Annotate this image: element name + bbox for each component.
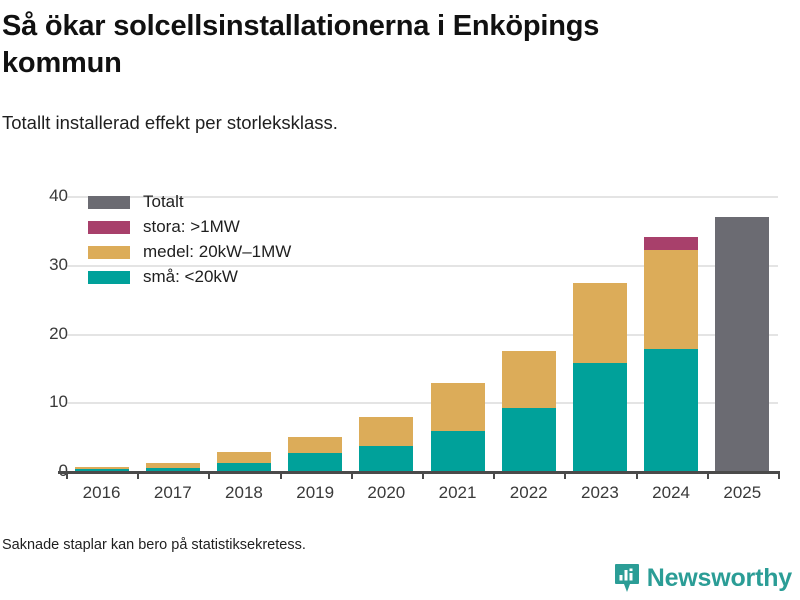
bar-stack[interactable]	[644, 237, 698, 471]
legend-label: stora: >1MW	[143, 217, 240, 237]
legend-item[interactable]: små: <20kW	[88, 266, 291, 288]
brand-name: Newsworthy	[647, 564, 792, 593]
y-axis-tick-label: 40	[8, 186, 68, 206]
bar-segment[interactable]	[288, 437, 342, 454]
legend-swatch	[88, 221, 130, 234]
bar-stack[interactable]	[573, 283, 627, 471]
y-axis-tick-label: 30	[8, 255, 68, 275]
x-axis-tick-label: 2022	[493, 483, 564, 503]
x-axis-tickmark	[280, 471, 282, 479]
bar-segment[interactable]	[217, 452, 271, 462]
bar-stack[interactable]	[288, 437, 342, 471]
bar-segment[interactable]	[359, 446, 413, 471]
x-axis-tickmark	[66, 471, 68, 479]
bar-stack[interactable]	[715, 217, 769, 471]
legend-swatch	[88, 246, 130, 259]
x-axis-tickmark	[351, 471, 353, 479]
bar-group[interactable]	[422, 196, 493, 471]
chart-subtitle: Totallt installerad effekt per storleksk…	[2, 111, 762, 135]
newsworthy-logo: Newsworthy	[614, 563, 792, 593]
x-axis-tick-label: 2016	[66, 483, 137, 503]
x-axis-tickmark	[778, 471, 780, 479]
bar-chart-pin-icon	[614, 563, 640, 593]
bar-stack[interactable]	[359, 417, 413, 471]
x-axis-tick-label: 2024	[636, 483, 707, 503]
bar-segment[interactable]	[217, 463, 271, 471]
legend-label: medel: 20kW–1MW	[143, 242, 291, 262]
bar-segment[interactable]	[644, 237, 698, 250]
x-axis-tick-label: 2023	[564, 483, 635, 503]
bar-group[interactable]	[636, 196, 707, 471]
bar-segment[interactable]	[431, 431, 485, 471]
chart-legend: Totaltstora: >1MWmedel: 20kW–1MWsmå: <20…	[88, 191, 291, 288]
x-axis-tick-label: 2020	[351, 483, 422, 503]
bar-segment[interactable]	[715, 217, 769, 471]
y-axis-tick-label: 10	[8, 392, 68, 412]
bar-segment[interactable]	[502, 408, 556, 471]
x-axis-tickmark	[208, 471, 210, 479]
legend-swatch	[88, 196, 130, 209]
bar-segment[interactable]	[573, 283, 627, 363]
bar-stack[interactable]	[431, 383, 485, 471]
x-axis-line	[58, 471, 780, 474]
y-axis-tick-label: 20	[8, 324, 68, 344]
legend-swatch	[88, 271, 130, 284]
legend-label: Totalt	[143, 192, 184, 212]
bar-segment[interactable]	[502, 351, 556, 408]
bar-stack[interactable]	[146, 463, 200, 471]
page-title: Så ökar solcellsinstallationerna i Enköp…	[2, 8, 702, 81]
x-axis-tickmark	[564, 471, 566, 479]
x-axis-tickmark	[493, 471, 495, 479]
x-axis-tickmark	[707, 471, 709, 479]
legend-item[interactable]: Totalt	[88, 191, 291, 213]
bar-segment[interactable]	[288, 453, 342, 471]
x-axis-labels: 2016201720182019202020212022202320242025	[66, 483, 778, 503]
bar-stack[interactable]	[502, 351, 556, 471]
bar-group[interactable]	[707, 196, 778, 471]
bar-segment[interactable]	[431, 383, 485, 431]
x-axis-tick-label: 2018	[208, 483, 279, 503]
bar-segment[interactable]	[359, 417, 413, 445]
x-axis-tick-label: 2021	[422, 483, 493, 503]
bar-segment[interactable]	[644, 349, 698, 471]
legend-item[interactable]: medel: 20kW–1MW	[88, 241, 291, 263]
chart-plot-wrapper: Totaltstora: >1MWmedel: 20kW–1MWsmå: <20…	[0, 183, 800, 493]
x-axis-tick-label: 2019	[280, 483, 351, 503]
bar-stack[interactable]	[217, 452, 271, 471]
bar-segment[interactable]	[644, 250, 698, 349]
x-axis-tickmark	[137, 471, 139, 479]
bar-group[interactable]	[564, 196, 635, 471]
x-axis-tickmark	[422, 471, 424, 479]
x-axis-tick-label: 2025	[707, 483, 778, 503]
bar-segment[interactable]	[573, 363, 627, 471]
chart-header: Så ökar solcellsinstallationerna i Enköp…	[0, 0, 762, 135]
chart-page: Så ökar solcellsinstallationerna i Enköp…	[0, 0, 800, 600]
legend-label: små: <20kW	[143, 267, 238, 287]
x-axis-tickmark	[636, 471, 638, 479]
legend-item[interactable]: stora: >1MW	[88, 216, 291, 238]
chart-footnote: Saknade staplar kan bero på statistiksek…	[2, 537, 306, 553]
x-axis-tick-label: 2017	[137, 483, 208, 503]
bar-group[interactable]	[351, 196, 422, 471]
bar-group[interactable]	[493, 196, 564, 471]
